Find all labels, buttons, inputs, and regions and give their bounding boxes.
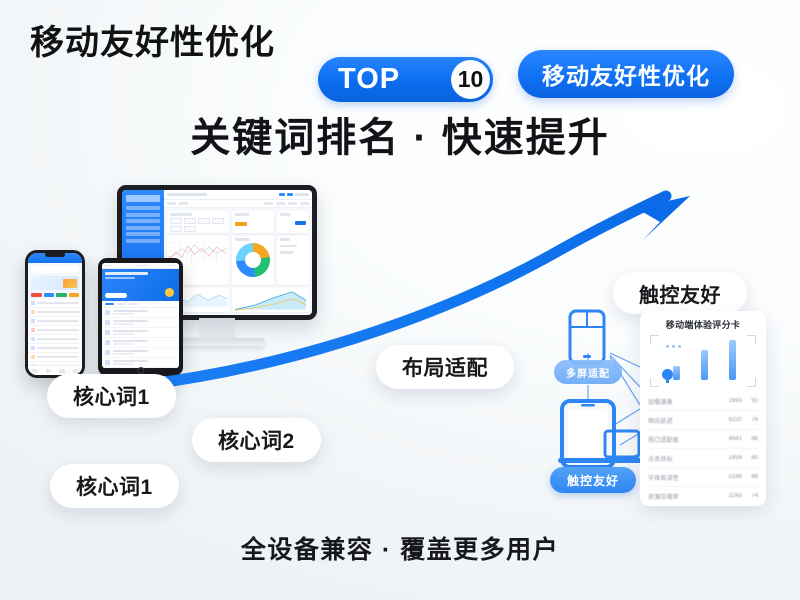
list-item: [28, 308, 82, 317]
category-icon: [56, 293, 67, 297]
row-name: 视口适配度: [648, 435, 716, 444]
dashboard-nav-item: [126, 226, 160, 230]
dashboard-stat-card: [232, 211, 274, 233]
topbar-user: [295, 193, 309, 196]
list-item: [102, 318, 179, 328]
footer-caption: 全设备兼容 · 覆盖更多用户: [0, 530, 800, 566]
tablet-tabs: [102, 301, 179, 308]
phone-promo-banner: [31, 276, 79, 290]
list-item: [28, 326, 82, 335]
hero-coin-icon: [165, 288, 174, 297]
chart-corner-marker: [747, 335, 756, 344]
topbar-spacer: [209, 193, 277, 196]
row-name: 资源压缩率: [648, 492, 716, 501]
chart-corner-marker: [650, 335, 659, 344]
table-row: 字体易读性 5186 88: [648, 468, 758, 487]
tablet-tab: [129, 303, 138, 305]
filter-chip: [170, 226, 182, 232]
table-row: 点击目标 2459 80: [648, 449, 758, 468]
dashboard-tab: [276, 202, 285, 205]
tablet-tab-active: [105, 303, 114, 305]
list-item: [102, 308, 179, 318]
row-value: 2243: [716, 493, 742, 499]
list-item-text: [113, 340, 176, 344]
header-kicker: 移动友好性优化: [30, 26, 275, 60]
statusbar-title: [135, 265, 147, 267]
hero-line-primary: [105, 272, 148, 275]
row-name: 字体易读性: [648, 473, 716, 482]
wave-chart-svg: [232, 288, 309, 311]
card-title-placeholder: [235, 238, 249, 241]
tab-bar-item: [32, 369, 38, 373]
tablet-home-button: [137, 367, 144, 374]
table-row: 响应延迟 8220 78: [648, 411, 758, 430]
row-score: 80: [742, 455, 758, 461]
list-item: [28, 344, 82, 353]
card-subtitle-placeholder: [280, 251, 293, 254]
topbar-breadcrumb: [167, 193, 207, 196]
dashboard-kpi-card: [277, 236, 309, 285]
list-item-icon: [105, 350, 110, 355]
list-item-text: [37, 302, 79, 304]
top-rank-badge: TOP 10: [318, 57, 493, 102]
chart-bars: [662, 338, 746, 380]
phone-search-bar: [31, 266, 79, 273]
dashboard-tabs: [164, 200, 312, 208]
dashboard-cards: [164, 208, 312, 315]
list-item: [102, 348, 179, 358]
side-card-button: [295, 221, 306, 225]
row-value: 8220: [716, 417, 742, 423]
arrow-head: [636, 196, 690, 240]
row-score: 74: [742, 493, 758, 499]
keyword-pill-1[interactable]: 核心词1: [47, 374, 176, 418]
dashboard-side-card: [277, 211, 309, 233]
row-name: 点击目标: [648, 454, 716, 463]
tablet-hero-banner: [102, 269, 179, 301]
card-subtitle-placeholder: [280, 245, 297, 248]
row-value: 4641: [716, 436, 742, 442]
category-icon: [44, 293, 55, 297]
card-title-placeholder: [170, 213, 192, 216]
tabs-spacer: [191, 202, 261, 205]
table-row: 资源压缩率 2243 74: [648, 487, 758, 505]
list-item-icon: [31, 355, 35, 359]
device-relationship-diagram: 多屏适配 触控友好 移动端体验评分卡 加载速度: [548, 305, 768, 510]
dashboard-logo: [126, 195, 160, 202]
chart-corner-marker: [747, 378, 756, 387]
top-badge-number: 10: [451, 60, 490, 99]
list-item-text: [113, 360, 176, 364]
list-item-icon: [105, 340, 110, 345]
card-title-placeholder: [235, 213, 249, 216]
phone-notch: [45, 252, 65, 257]
list-item: [102, 328, 179, 338]
list-item-text: [37, 320, 79, 322]
topbar-action-icon: [287, 193, 293, 196]
mobile-score-card: 移动端体验评分卡 加载速度 1693 92: [640, 311, 766, 506]
diagram-pill-touch: 触控友好: [550, 467, 636, 493]
category-icon: [69, 293, 80, 297]
row-score: 86: [742, 436, 758, 442]
promo-card-image: [63, 279, 77, 288]
list-item-icon: [105, 360, 110, 365]
chart-bar: [673, 366, 680, 380]
topbar-action-icon: [279, 193, 285, 196]
dashboard-tab: [288, 202, 297, 205]
list-item: [28, 335, 82, 344]
monitor-stand-foot: [169, 338, 265, 346]
dashboard-tab: [179, 202, 188, 205]
list-item-icon: [31, 337, 35, 341]
row-score: 92: [742, 398, 758, 404]
score-card-chart: [650, 335, 756, 387]
dashboard-tab: [300, 202, 309, 205]
row-score: 88: [742, 474, 758, 480]
list-item-text: [113, 310, 176, 314]
list-item-icon: [31, 319, 35, 323]
dashboard-filter-card: [167, 211, 229, 233]
list-item-text: [113, 330, 176, 334]
dashboard-nav-item: [126, 219, 160, 223]
hero-line-secondary: [105, 277, 135, 279]
score-card-rows: 加载速度 1693 92 响应延迟 8220 78 视口适配度 4641 86 …: [648, 392, 758, 505]
row-name: 响应延迟: [648, 416, 716, 425]
list-item-text: [37, 329, 79, 331]
dashboard-nav-item: [126, 206, 160, 210]
card-title-placeholder: [280, 213, 290, 216]
list-item-text: [37, 356, 79, 358]
filter-chip: [184, 226, 196, 232]
row-value: 5186: [716, 474, 742, 480]
monitor-stand-neck: [199, 318, 235, 340]
dashboard-donut-card: [232, 236, 274, 285]
tab-bar-item: [59, 369, 65, 373]
filter-chip: [170, 218, 182, 224]
tab-bar-item: [46, 369, 52, 373]
phone-category-row: [28, 290, 82, 299]
tablet-tab: [117, 303, 126, 305]
list-item: [28, 317, 82, 326]
layout-adaptation-pill[interactable]: 布局适配: [376, 345, 514, 389]
diagram-pill-multiscreen: 多屏适配: [554, 360, 622, 384]
dashboard-nav-item: [126, 213, 160, 217]
poster-canvas: 移动友好性优化 TOP 10 移动友好性优化 关键词排名 · 快速提升: [0, 0, 800, 600]
list-item-text: [37, 311, 79, 313]
header-right-pill: 移动友好性优化: [518, 50, 734, 98]
diagram-small-phone-icon: [570, 311, 604, 363]
list-item-text: [113, 320, 176, 324]
device-mockup-group: [25, 185, 335, 385]
hero-cta-button: [105, 293, 127, 298]
phone-bezel: [25, 250, 85, 378]
phone-screen: [28, 253, 82, 375]
score-card-title: 移动端体验评分卡: [648, 318, 758, 331]
dashboard-topbar: [164, 190, 312, 200]
statusbar-icons: [169, 265, 176, 267]
donut-chart: [236, 243, 270, 277]
chart-bar: [701, 350, 708, 380]
phone-mockup: [25, 250, 85, 378]
filter-chips: [170, 218, 226, 232]
list-item-icon: [105, 320, 110, 325]
filter-chip: [198, 218, 210, 224]
chart-corner-marker: [650, 378, 659, 387]
chart-bar: [729, 340, 736, 380]
list-item-text: [113, 350, 176, 354]
page-headline: 关键词排名 · 快速提升: [0, 118, 800, 158]
dashboard-nav-item: [126, 232, 160, 236]
list-item-icon: [105, 310, 110, 315]
row-value: 2459: [716, 455, 742, 461]
dashboard-tab: [264, 202, 273, 205]
dashboard-wave-chart-card: [232, 288, 309, 312]
row-score: 78: [742, 417, 758, 423]
stat-highlight-bar: [235, 222, 247, 226]
tablet-mockup: [98, 258, 183, 376]
filter-chip: [212, 218, 224, 224]
tablet-bezel: [98, 258, 183, 376]
list-item-text: [37, 338, 79, 340]
list-item-text: [37, 347, 79, 349]
list-item-icon: [31, 328, 35, 332]
row-name: 加载速度: [648, 397, 716, 406]
category-icon: [31, 293, 42, 297]
dashboard-main: [164, 190, 312, 315]
dashboard-tab: [167, 202, 176, 205]
top-badge-label: TOP: [338, 63, 400, 96]
list-item-icon: [105, 330, 110, 335]
table-row: 加载速度 1693 92: [648, 392, 758, 411]
card-title-placeholder: [280, 238, 290, 241]
list-item-icon: [31, 301, 35, 305]
table-row: 视口适配度 4641 86: [648, 430, 758, 449]
statusbar-time: [105, 265, 112, 267]
list-item: [28, 353, 82, 362]
dashboard-nav-item: [126, 239, 160, 243]
row-value: 1693: [716, 398, 742, 404]
keyword-pill-3[interactable]: 核心词1: [50, 464, 179, 508]
list-item-icon: [31, 310, 35, 314]
list-item: [28, 299, 82, 308]
list-item-icon: [31, 346, 35, 350]
filter-chip: [184, 218, 196, 224]
list-item: [102, 338, 179, 348]
tab-bar-item: [73, 369, 79, 373]
tablet-screen: [102, 263, 179, 368]
keyword-pill-2[interactable]: 核心词2: [192, 418, 321, 462]
